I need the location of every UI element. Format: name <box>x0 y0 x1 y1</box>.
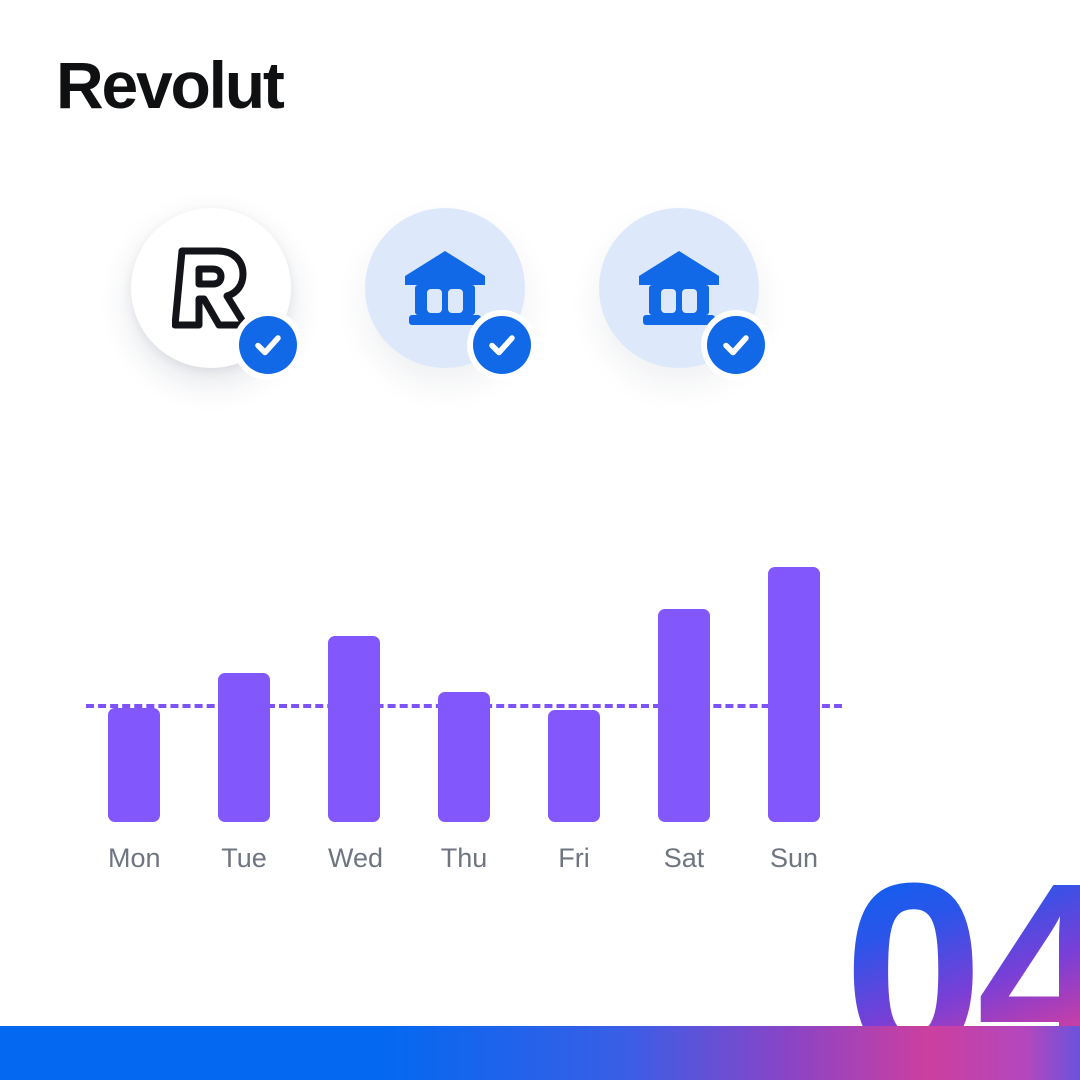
account-badge-bank-2[interactable] <box>599 208 759 368</box>
chart-bar <box>108 708 160 822</box>
chart-bar-column <box>328 556 380 822</box>
check-circle-icon <box>707 316 765 374</box>
chart-bar-column <box>768 556 820 822</box>
poster-canvas: Revolut <box>0 0 1080 1080</box>
chart-x-label: Wed <box>328 843 380 874</box>
chart-bar-column <box>658 556 710 822</box>
verified-badge <box>701 310 771 380</box>
check-mark-icon <box>251 328 285 362</box>
chart-bar-column <box>548 556 600 822</box>
chart-x-label: Mon <box>108 843 160 874</box>
chart-x-label: Thu <box>438 843 490 874</box>
chart-bar <box>328 636 380 822</box>
chart-bar <box>548 710 600 822</box>
chart-bar <box>218 673 270 822</box>
revolut-r-logo-icon <box>172 245 250 331</box>
account-badge-revolut[interactable] <box>131 208 291 368</box>
chart-x-label: Sun <box>768 843 820 874</box>
chart-bar-column <box>108 556 160 822</box>
chart-x-label: Tue <box>218 843 270 874</box>
check-mark-icon <box>485 328 519 362</box>
check-circle-icon <box>239 316 297 374</box>
chart-bar <box>658 609 710 822</box>
linked-accounts-row <box>131 208 759 368</box>
bank-building-icon <box>403 249 487 327</box>
brand-wordmark: Revolut <box>56 52 283 118</box>
chart-x-label: Sat <box>658 843 710 874</box>
check-mark-icon <box>719 328 753 362</box>
chart-bar <box>768 567 820 822</box>
account-badge-bank-1[interactable] <box>365 208 525 368</box>
chart-x-axis-labels: MonTueWedThuFriSatSun <box>108 843 820 874</box>
chart-x-label: Fri <box>548 843 600 874</box>
footer-gradient-bar <box>0 1026 1080 1080</box>
verified-badge <box>467 310 537 380</box>
weekly-spending-chart <box>108 556 820 822</box>
chart-bar-column <box>438 556 490 822</box>
check-circle-icon <box>473 316 531 374</box>
verified-badge <box>233 310 303 380</box>
chart-bar <box>438 692 490 822</box>
bank-building-icon <box>637 249 721 327</box>
chart-bar-column <box>218 556 270 822</box>
chart-bars <box>108 556 820 822</box>
